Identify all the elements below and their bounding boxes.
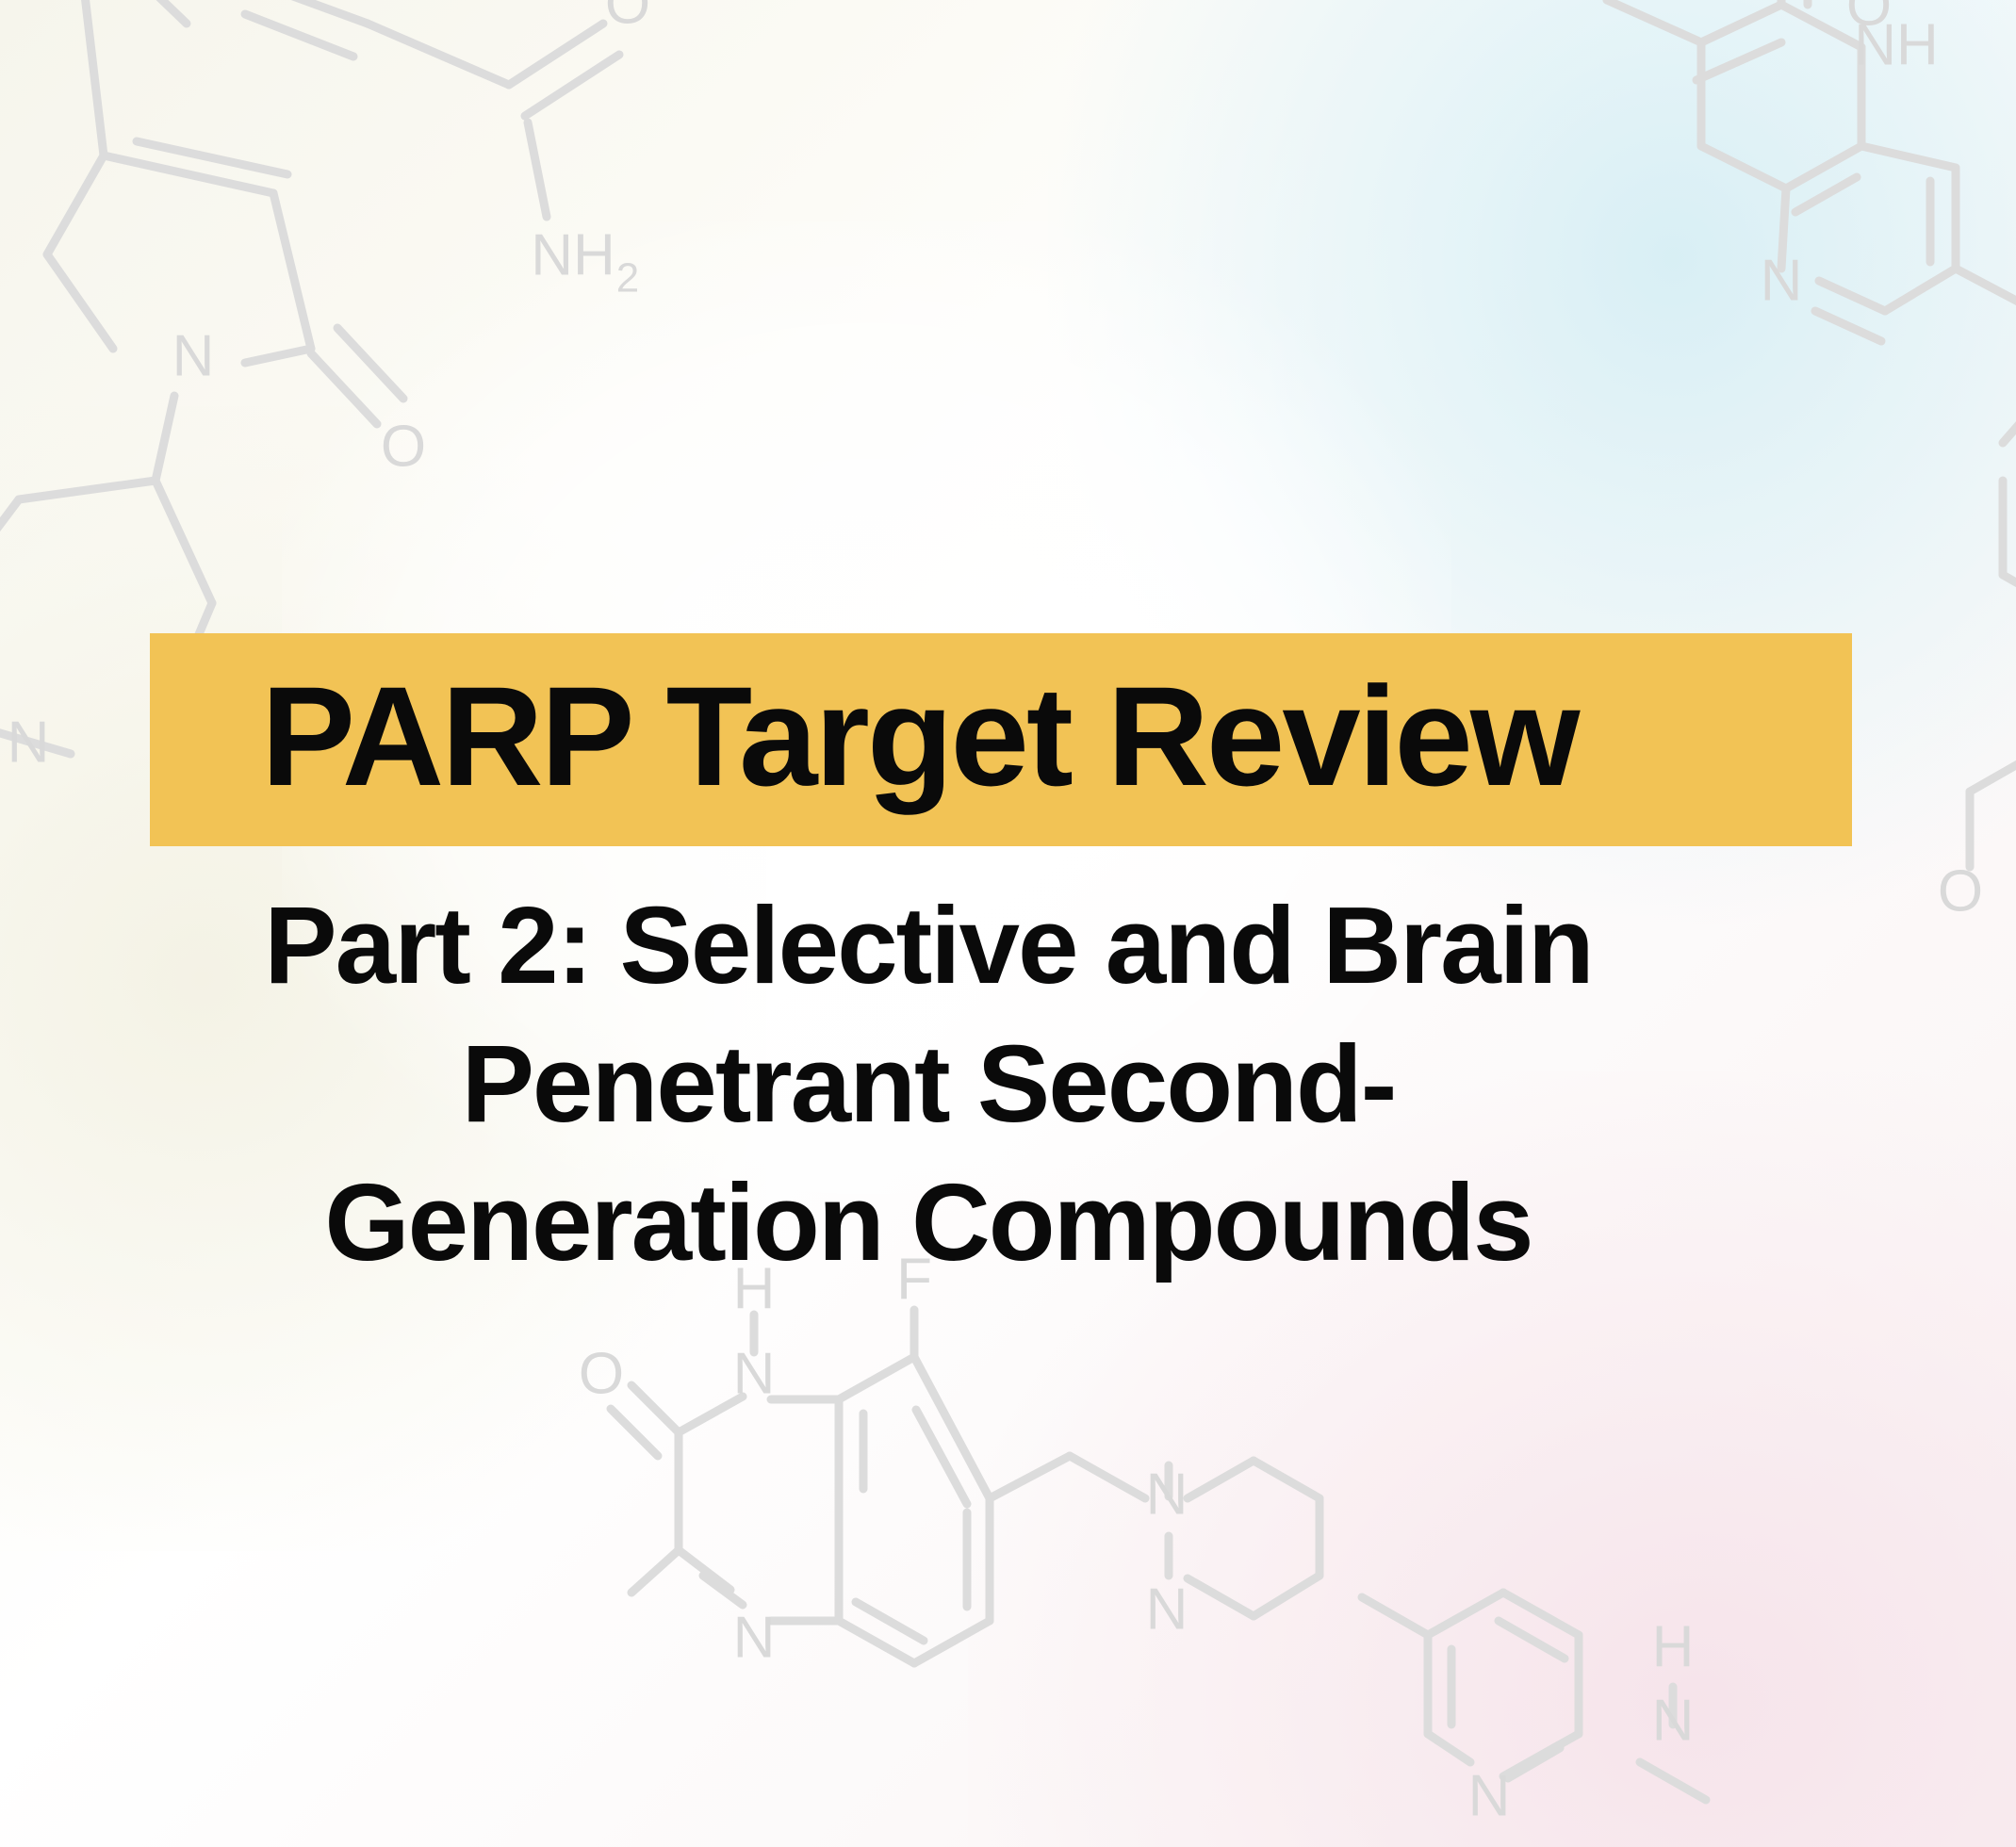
title-card: O NH 2 N O N [0,0,2016,1847]
subtitle-line-3: Generation Compounds [132,1153,1725,1292]
page-title: PARP Target Review [261,665,1578,807]
subtitle-line-2: Penetrant Second- [132,1015,1725,1153]
subtitle-line-1: Part 2: Selective and Brain [132,876,1725,1015]
subtitle-block: Part 2: Selective and Brain Penetrant Se… [132,876,1725,1292]
title-banner: PARP Target Review [150,633,1852,846]
